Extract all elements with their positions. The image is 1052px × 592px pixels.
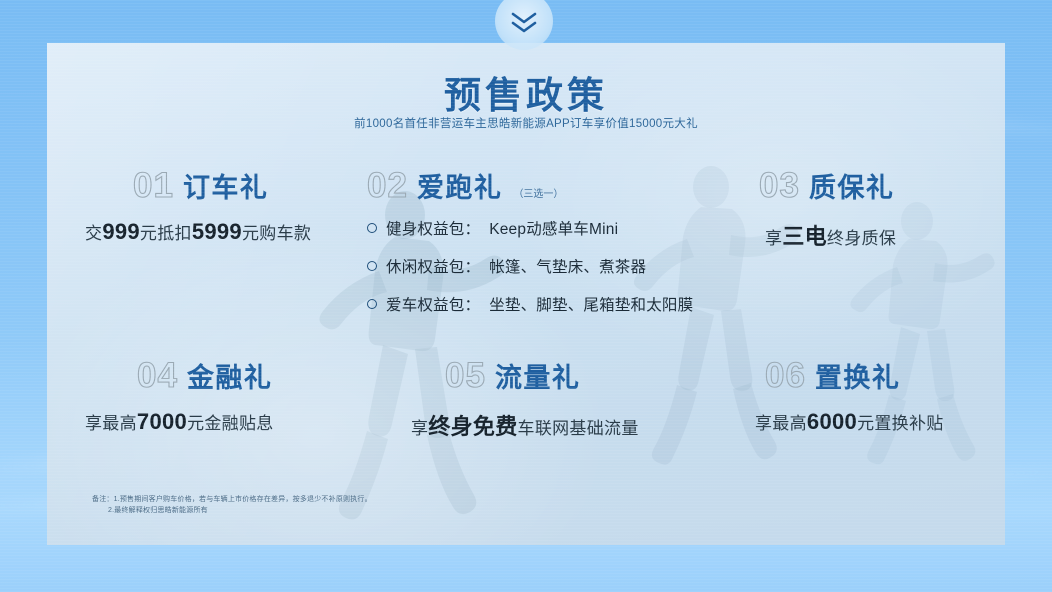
footnote-line-1: 备注：1.预售期间客户购车价格，若与车辆上市价格存在差异，按多退少不补原则执行。 (92, 495, 372, 506)
promo-page: 预售政策 前1000名首任非营运车主思皓新能源APP订车享价值15000元大礼 … (0, 0, 1052, 592)
gift-block-02: 02 爱跑礼 （三选一） 健身权益包： Keep动感单车Mini 休闲权益包： … (367, 168, 693, 331)
gift-description: 享终身免费车联网基础流量 (411, 409, 639, 441)
benefit-package-list: 健身权益包： Keep动感单车Mini 休闲权益包： 帐篷、气垫床、煮茶器 爱车… (367, 217, 693, 315)
page-title: 预售政策 (47, 65, 1005, 119)
gift-desc-suffix: 车联网基础流量 (518, 419, 639, 438)
gift-number: 01 (133, 168, 174, 203)
gift-desc-highlight-2: 5999 (192, 219, 242, 244)
footnote-line-2: 2.最终解释权归思皓新能源所有 (108, 506, 372, 517)
gift-number: 04 (137, 358, 178, 393)
list-item-value: 帐篷、气垫床、煮茶器 (489, 255, 646, 277)
gift-description: 交999元抵扣5999元购车款 (85, 219, 311, 245)
gift-desc-prefix: 享 (411, 419, 428, 438)
gift-description: 享最高7000元金融贴息 (85, 409, 274, 435)
list-item-value: 坐垫、脚垫、尾箱垫和太阳膜 (489, 293, 693, 315)
list-item-value: Keep动感单车Mini (489, 217, 618, 239)
list-item[interactable]: 爱车权益包： 坐垫、脚垫、尾箱垫和太阳膜 (367, 293, 693, 315)
circle-bullet-icon (367, 261, 377, 271)
circle-bullet-icon (367, 299, 377, 309)
list-item-label: 爱车权益包： (386, 293, 480, 315)
gift-desc-prefix: 交 (85, 224, 102, 243)
gift-desc-highlight: 6000 (807, 409, 857, 434)
gift-number: 05 (445, 358, 486, 393)
gift-heading: 04 金融礼 (137, 358, 274, 393)
gift-title: 爱跑礼 (417, 175, 503, 202)
list-item[interactable]: 健身权益包： Keep动感单车Mini (367, 217, 693, 239)
presale-policy-card: 预售政策 前1000名首任非营运车主思皓新能源APP订车享价值15000元大礼 … (47, 43, 1005, 545)
gift-number: 02 (367, 168, 408, 203)
page-subtitle: 前1000名首任非营运车主思皓新能源APP订车享价值15000元大礼 (47, 115, 1005, 131)
gift-number: 03 (759, 168, 800, 203)
gift-desc-suffix: 元置换补贴 (857, 414, 944, 433)
gift-description: 享三电终身质保 (765, 219, 896, 251)
gift-block-06: 06 置换礼 享最高6000元置换补贴 (747, 358, 944, 435)
gift-title: 质保礼 (809, 175, 895, 202)
gift-heading: 02 爱跑礼 （三选一） (367, 168, 693, 203)
gift-heading: 05 流量礼 (445, 358, 639, 393)
gift-block-04: 04 金融礼 享最高7000元金融贴息 (85, 358, 274, 435)
gift-number: 06 (765, 358, 806, 393)
gift-title: 置换礼 (815, 365, 901, 392)
footnote: 备注：1.预售期间客户购车价格，若与车辆上市价格存在差异，按多退少不补原则执行。… (92, 495, 372, 517)
gift-description: 享最高6000元置换补贴 (755, 409, 944, 435)
gift-desc-suffix: 终身质保 (827, 229, 896, 248)
list-item-label: 休闲权益包： (386, 255, 480, 277)
gift-desc-highlight: 三电 (782, 224, 827, 249)
gift-desc-highlight: 终身免费 (428, 414, 517, 439)
gift-desc-middle: 元抵扣 (140, 224, 192, 243)
gift-heading: 06 置换礼 (765, 358, 944, 393)
gift-desc-highlight: 999 (102, 219, 140, 244)
gift-desc-prefix: 享 (765, 229, 782, 248)
gift-desc-suffix: 元购车款 (242, 224, 311, 243)
gift-desc-suffix: 元金融贴息 (187, 414, 274, 433)
gift-desc-prefix: 享最高 (755, 414, 807, 433)
gift-note: （三选一） (513, 185, 563, 200)
circle-bullet-icon (367, 223, 377, 233)
list-item-label: 健身权益包： (386, 217, 480, 239)
gift-title: 金融礼 (187, 365, 273, 392)
list-item[interactable]: 休闲权益包： 帐篷、气垫床、煮茶器 (367, 255, 693, 277)
double-chevron-down-icon (509, 7, 539, 35)
gift-heading: 01 订车礼 (133, 168, 311, 203)
gift-block-05: 05 流量礼 享终身免费车联网基础流量 (415, 358, 639, 441)
gift-desc-highlight: 7000 (137, 409, 187, 434)
gift-desc-prefix: 享最高 (85, 414, 137, 433)
gift-title: 订车礼 (183, 175, 269, 202)
gift-block-03: 03 质保礼 享三电终身质保 (747, 168, 896, 251)
gift-heading: 03 质保礼 (759, 168, 896, 203)
gift-block-01: 01 订车礼 交999元抵扣5999元购车款 (85, 168, 311, 245)
gift-title: 流量礼 (495, 365, 581, 392)
